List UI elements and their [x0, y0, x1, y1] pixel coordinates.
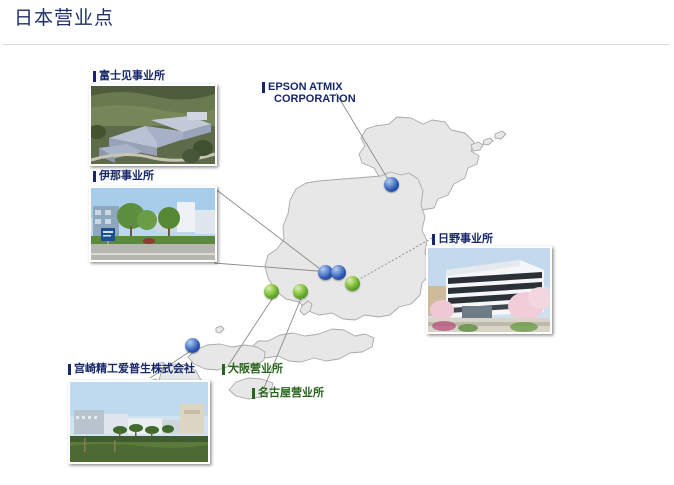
label-nagoya: 名古屋营业所	[252, 387, 324, 400]
marker-nagoya[interactable]	[293, 284, 308, 299]
title-divider	[2, 44, 670, 45]
photo-miyazaki	[68, 380, 210, 464]
photo-ina	[89, 186, 217, 262]
label-osaka: 大阪营业所	[222, 363, 283, 376]
label-epson-atmix-line1: EPSON ATMIX	[268, 81, 343, 93]
label-ina: 伊那事业所	[93, 170, 154, 183]
leader-line-epson-atmix	[336, 93, 389, 181]
marker-epson-atmix[interactable]	[384, 177, 399, 192]
label-hino: 日野事业所	[432, 233, 493, 246]
leader-line-ina	[214, 263, 330, 272]
photo-ina-art	[91, 188, 215, 260]
marker-hino[interactable]	[345, 276, 360, 291]
leader-line-hino	[358, 238, 432, 280]
leader-line-fujimi	[214, 188, 324, 272]
label-epson-atmix: EPSON ATMIX CORPORATION	[262, 81, 376, 105]
marker-osaka[interactable]	[264, 284, 279, 299]
marker-ina[interactable]	[331, 265, 346, 280]
slide-canvas: 日本营业点	[0, 0, 674, 485]
label-fujimi: 富士见事业所	[93, 70, 165, 83]
page-title: 日本营业点	[14, 6, 114, 32]
photo-miyazaki-art	[70, 382, 208, 462]
label-miyazaki: 宫崎精工爱普生株式会社	[68, 363, 195, 376]
label-epson-atmix-line2: CORPORATION	[268, 93, 356, 105]
photo-fujimi-art	[91, 86, 215, 164]
marker-miyazaki[interactable]	[185, 338, 200, 353]
photo-fujimi	[89, 84, 217, 166]
photo-hino	[426, 246, 552, 334]
photo-hino-art	[428, 248, 550, 332]
leader-line-osaka	[228, 296, 274, 366]
